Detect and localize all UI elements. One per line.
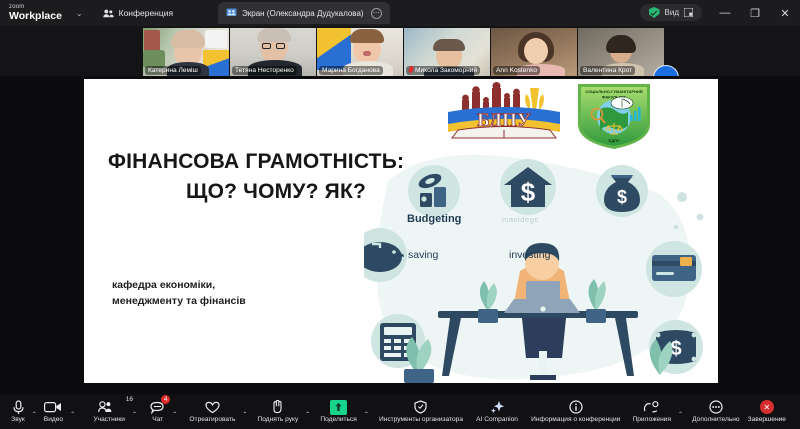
label-saving: saving (408, 249, 438, 261)
screen-share-icon (226, 8, 237, 18)
host-tools-button[interactable]: Инструменты организатора (375, 394, 467, 429)
slide-subtitle-line1: кафедра економіки, (112, 277, 362, 293)
slide-title-line1: ФІНАНСОВА ГРАМОТНІСТЬ: (108, 150, 404, 173)
muted-mic-icon (408, 66, 414, 73)
reactions-button[interactable]: Отреагировать (185, 394, 239, 429)
shared-screen-stage: БДПУ СОЦІАЛЬНО-ГУМАНІТАРНИЙ ФАКУЛЬТЕТ (0, 76, 800, 394)
chat-options-caret[interactable]: ⌃ (169, 411, 180, 418)
title-bar: zoom Workplace ⌄ Конференция (0, 0, 800, 26)
label-investing: investing (509, 249, 550, 261)
slide-subtitle: кафедра економіки, менеджменту та фінанс… (112, 277, 362, 309)
chat-unread-badge: 4 (161, 395, 170, 404)
participant-thumbnail[interactable]: Валентина Крот (578, 28, 664, 76)
tab-shared-screen-label: Экран (Олександра Дудукалова) (242, 9, 364, 18)
chat-label: Чат (152, 416, 163, 423)
zoom-logo: zoom Workplace (0, 4, 62, 22)
reactions-label: Отреагировать (189, 416, 235, 423)
label-budgeting: Budgeting (407, 213, 461, 225)
tab-shared-screen[interactable]: Экран (Олександра Дудукалова) ⋯ (218, 2, 390, 24)
meeting-toolbar: Звук ⌃ Видео ⌃ Участни (0, 394, 800, 429)
raise-hand-options-caret[interactable]: ⌃ (302, 411, 313, 418)
info-circle-icon (569, 400, 583, 415)
faculty-logo: СОЦІАЛЬНО-ГУМАНІТАРНИЙ ФАКУЛЬТЕТ БДПУ (574, 81, 654, 151)
more-label: Дополнительно (692, 416, 739, 423)
participant-thumbnail[interactable]: Марина Богданова (317, 28, 403, 76)
end-meeting-button[interactable]: ✕ Завершение (744, 394, 800, 429)
chevron-down-icon[interactable]: ⌄ (76, 9, 83, 18)
end-call-icon: ✕ (760, 400, 774, 415)
zoom-meeting-window: zoom Workplace ⌄ Конференция (0, 0, 800, 429)
meeting-info-button[interactable]: Информация о конференции (527, 394, 624, 429)
video-label: Видео (44, 416, 63, 423)
svg-text:$: $ (617, 187, 627, 207)
ai-companion-label: AI Companion (476, 416, 518, 423)
host-tools-icon (414, 400, 427, 415)
svg-text:$: $ (521, 177, 536, 207)
audio-label: Звук (11, 416, 25, 423)
raise-hand-icon (271, 400, 284, 415)
presentation-slide[interactable]: БДПУ СОЦІАЛЬНО-ГУМАНІТАРНИЙ ФАКУЛЬТЕТ (84, 79, 718, 383)
audio-options-caret[interactable]: ⌃ (29, 411, 40, 418)
participant-thumbnail[interactable]: Катерина Леміш (143, 28, 229, 76)
bdpu-logo: БДПУ (442, 82, 566, 144)
apps-options-caret[interactable]: ⌃ (675, 411, 686, 418)
video-camera-icon (44, 400, 62, 415)
apps-label: Приложения (632, 416, 671, 423)
slide-subtitle-line2: менеджменту та фінансів (112, 293, 362, 309)
video-options-caret[interactable]: ⌃ (67, 411, 78, 418)
apps-button[interactable]: Приложения (628, 394, 675, 429)
video-button[interactable]: Видео (40, 394, 67, 429)
tab-conference[interactable]: Конференция (103, 8, 173, 18)
participant-name: Тетяна Несторенко (232, 66, 297, 75)
faculty-logo-bottom-text: БДПУ (608, 138, 620, 143)
tab-more-icon[interactable]: ⋯ (371, 8, 382, 19)
ai-sparkle-icon (490, 400, 505, 415)
participants-group-icon (103, 9, 114, 18)
share-options-caret[interactable]: ⌃ (361, 411, 372, 418)
more-button[interactable]: Дополнительно (688, 394, 743, 429)
thumbnail-list: Катерина Леміш Тетяна Несторенко Марина … (143, 28, 664, 76)
participant-filmstrip: Катерина Леміш Тетяна Несторенко Марина … (0, 26, 800, 76)
participants-label: Участники (93, 416, 125, 423)
reactions-options-caret[interactable]: ⌃ (239, 411, 250, 418)
share-screen-icon (330, 400, 347, 415)
audio-button[interactable]: Звук (7, 394, 29, 429)
apps-icon (643, 400, 660, 415)
participants-options-caret[interactable]: ⌃ (129, 411, 140, 418)
share-screen-label: Поделиться (320, 416, 356, 423)
microphone-icon (12, 400, 25, 415)
participant-name: Микола Закоморний (406, 66, 480, 75)
participant-name: Марина Богданова (319, 66, 383, 75)
meeting-info-label: Информация о конференции (531, 416, 620, 423)
chat-button[interactable]: Чат 4 (146, 394, 169, 429)
participant-name: Валентина Крот (580, 66, 635, 75)
maximize-button[interactable]: ❐ (740, 0, 770, 26)
brand-workplace-text: Workplace (9, 11, 62, 22)
view-selector[interactable]: Вид (640, 4, 702, 21)
raise-hand-button[interactable]: Поднять руку (254, 394, 303, 429)
raise-hand-label: Поднять руку (258, 416, 299, 423)
participant-thumbnail[interactable]: Микола Закоморний (404, 28, 490, 76)
more-dots-icon (709, 400, 723, 415)
close-button[interactable]: ✕ (770, 0, 800, 26)
illustration-watermark: mavidegc (502, 215, 539, 224)
participant-name: Ann Kostenko (493, 66, 540, 75)
faculty-logo-top-text: СОЦІАЛЬНО-ГУМАНІТАРНИЙ (585, 89, 642, 94)
host-tools-label: Инструменты организатора (379, 416, 463, 423)
layout-grid-icon (684, 8, 693, 17)
tab-conference-label: Конференция (119, 8, 173, 18)
finance-illustration: $ $ (364, 151, 718, 383)
shield-icon (649, 7, 660, 18)
participants-button[interactable]: Участники 16 (89, 394, 129, 429)
heart-icon (205, 400, 220, 415)
end-meeting-label: Завершение (748, 416, 786, 423)
minimize-button[interactable]: — (710, 0, 740, 26)
participant-thumbnail[interactable]: Тетяна Несторенко (230, 28, 316, 76)
view-label: Вид (665, 8, 679, 17)
share-screen-button[interactable]: Поделиться (316, 394, 360, 429)
participant-name: Катерина Леміш (145, 66, 201, 75)
participants-count: 16 (126, 396, 133, 403)
participants-icon (98, 400, 120, 415)
ai-companion-button[interactable]: AI Companion (472, 394, 522, 429)
window-controls: — ❐ ✕ (710, 0, 800, 26)
participant-thumbnail[interactable]: Ann Kostenko (491, 28, 577, 76)
